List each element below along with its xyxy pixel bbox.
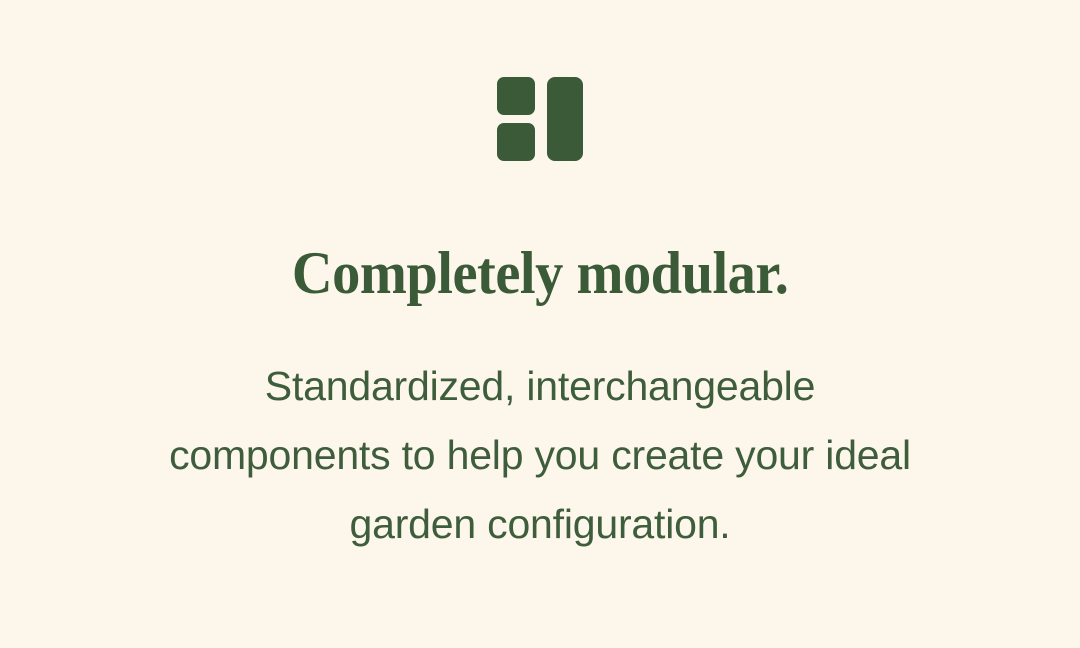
icon-block-top-left — [497, 77, 535, 115]
description-line-1: Standardized, interchangeable — [70, 352, 1010, 421]
description-line-2: components to help you create your ideal — [70, 421, 1010, 490]
description-line-3: garden configuration. — [70, 490, 1010, 559]
icon-block-right — [547, 77, 583, 161]
icon-block-bottom-left — [497, 123, 535, 161]
feature-section: Completely modular. Standardized, interc… — [0, 0, 1080, 648]
feature-description: Standardized, interchangeable components… — [70, 352, 1010, 559]
modular-blocks-icon — [497, 77, 583, 161]
page-title: Completely modular. — [292, 243, 789, 303]
